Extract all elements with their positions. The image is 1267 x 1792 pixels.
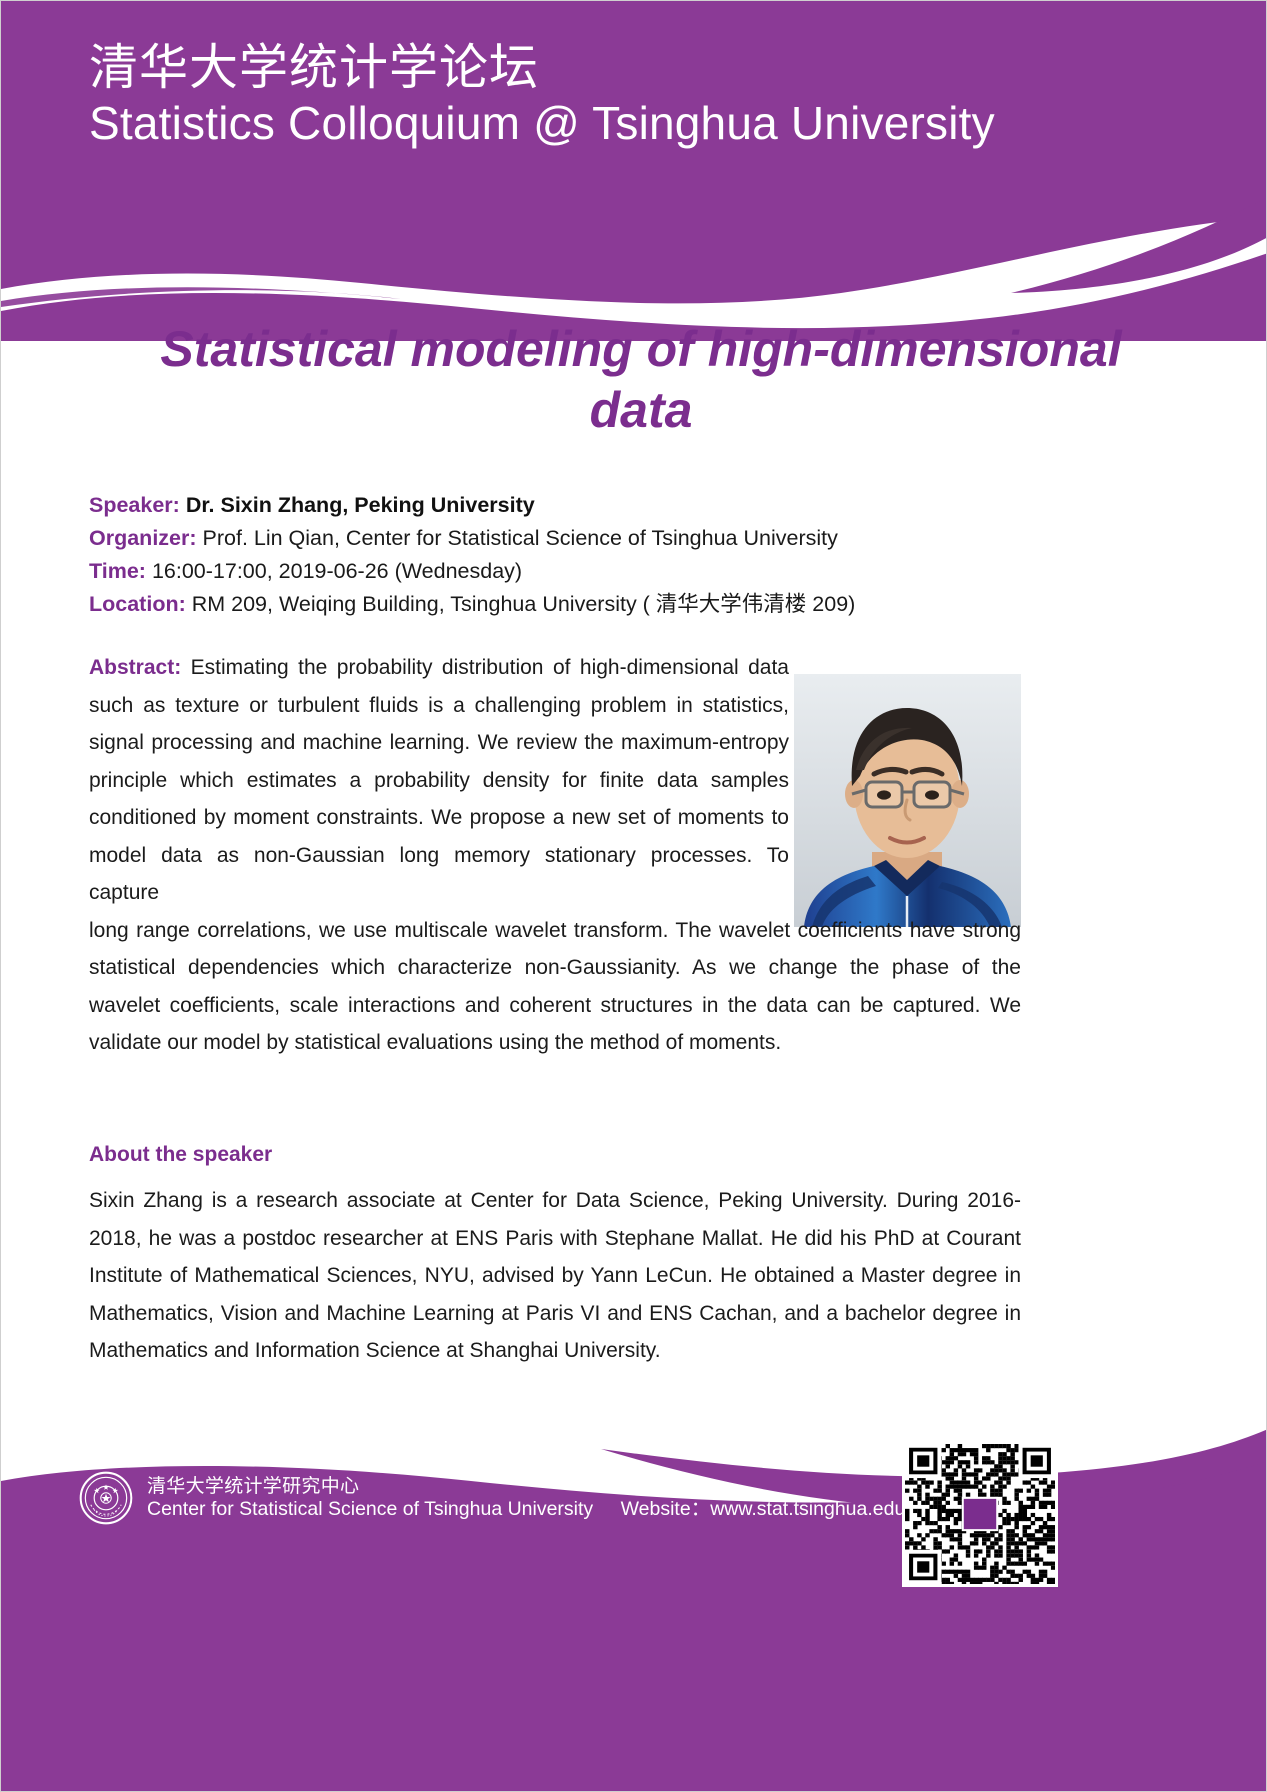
meta-row-speaker: Speaker: Dr. Sixin Zhang, Peking Univers… [89,489,1184,522]
organizer-value: Prof. Lin Qian, Center for Statistical S… [203,526,838,550]
footer-website-label: Website： [621,1498,711,1520]
talk-title: Statistical modeling of high-dimensional… [151,319,1131,441]
qr-code[interactable] [902,1441,1058,1587]
poster-root: 清华大学统计学论坛 Statistics Colloquium @ Tsingh… [0,0,1267,1792]
meta-row-location: Location: RM 209, Weiqing Building, Tsin… [89,588,1184,621]
location-label: Location: [89,592,186,616]
abstract-label: Abstract: [89,656,181,679]
abstract-text-narrow: Estimating the probability distribution … [89,656,789,904]
qr-code-canvas [905,1444,1055,1584]
header-band: 清华大学统计学论坛 Statistics Colloquium @ Tsingh… [1,1,1267,341]
speaker-label: Speaker: [89,493,180,517]
header-title-group: 清华大学统计学论坛 Statistics Colloquium @ Tsingh… [89,41,1209,149]
event-meta: Speaker: Dr. Sixin Zhang, Peking Univers… [89,489,1184,621]
abstract-paragraph-narrow: Abstract: Estimating the probability dis… [89,649,789,912]
footer-org-cn: 清华大学统计学研究中心 [147,1475,931,1498]
header-title-cn: 清华大学统计学论坛 [89,41,1209,96]
header-title-en: Statistics Colloquium @ Tsinghua Univers… [89,98,1209,150]
meta-row-organizer: Organizer: Prof. Lin Qian, Center for St… [89,522,1184,555]
meta-row-time: Time: 16:00-17:00, 2019-06-26 (Wednesday… [89,555,1184,588]
tsinghua-seal-icon [79,1471,133,1525]
footer-org-en: Center for Statistical Science of Tsingh… [147,1498,593,1520]
organizer-label: Organizer: [89,526,197,550]
footer-identity: 清华大学统计学研究中心 Center for Statistical Scien… [79,1471,931,1525]
speaker-value: Dr. Sixin Zhang, Peking University [186,493,535,517]
time-label: Time: [89,559,146,583]
time-value: 16:00-17:00, 2019-06-26 (Wednesday) [152,559,522,583]
abstract-paragraph-wide: long range correlations, we use multisca… [89,912,1021,1062]
about-speaker-body: Sixin Zhang is a research associate at C… [89,1182,1021,1370]
footer-text-group: 清华大学统计学研究中心 Center for Statistical Scien… [147,1475,931,1522]
footer-org-en-row: Center for Statistical Science of Tsingh… [147,1498,931,1522]
location-value: RM 209, Weiqing Building, Tsinghua Unive… [192,592,856,616]
about-speaker-heading: About the speaker [89,1143,272,1167]
abstract-block: Abstract: Estimating the probability dis… [89,649,1021,1062]
footer-website-url[interactable]: www.stat.tsinghua.edu.cn [710,1498,931,1520]
